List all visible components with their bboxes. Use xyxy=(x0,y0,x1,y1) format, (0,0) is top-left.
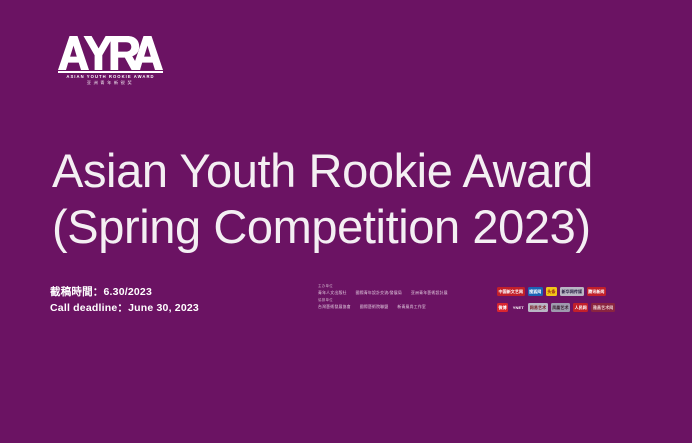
title-line-1: Asian Youth Rookie Award xyxy=(52,143,667,199)
media-logo: 头条 xyxy=(546,287,557,296)
media-logo: 网易艺术 xyxy=(528,303,547,312)
organizer-name: 國際藝術院聯盟 xyxy=(360,305,389,309)
media-logo: 雅昌艺术网 xyxy=(591,303,615,312)
deadline-chinese: 截稿時間：6.30/2023 xyxy=(50,284,199,300)
logo-subtitle-en: ASIAN YOUTH ROOKIE AWARD xyxy=(58,75,163,79)
deadline-block: 截稿時間：6.30/2023 Call deadline：June 30, 20… xyxy=(50,284,199,316)
organizer-name: 台灣藝術發展協會 xyxy=(318,305,351,309)
organizer-group: 主办单位 青年人文出版社 國際青年設計交流/發展局 亚洲青年藝術設計展 xyxy=(318,285,490,295)
organizer-name: 青年人文出版社 xyxy=(318,291,347,295)
organizer-block: 主办单位 青年人文出版社 國際青年設計交流/發展局 亚洲青年藝術設計展 協辦单位… xyxy=(318,285,490,313)
ayra-wordmark-icon xyxy=(58,36,163,70)
media-logo: 微博 xyxy=(497,303,508,312)
organizer-name: 國際青年設計交流/發展局 xyxy=(356,291,402,295)
media-logo: 中国新文艺网 xyxy=(497,287,525,296)
title-line-2: (Spring Competition 2023) xyxy=(52,199,667,255)
organizer-group: 協辦单位 台灣藝術發展協會 國際藝術院聯盟 新青風尚工作室 xyxy=(318,299,490,309)
media-logo: 新华网传媒 xyxy=(560,287,584,296)
logo-subtitle-cn: 亚洲青年新锐奖 xyxy=(58,81,163,85)
media-logo: 腾讯新闻 xyxy=(587,287,606,296)
organizer-names: 青年人文出版社 國際青年設計交流/發展局 亚洲青年藝術設計展 xyxy=(318,291,490,295)
media-partner-strip: 中国新文艺网 搜狐网 头条 新华网传媒 腾讯新闻 微博 YNET 网易艺术 凤凰… xyxy=(497,285,649,317)
ayra-logo: ASIAN YOUTH ROOKIE AWARD 亚洲青年新锐奖 xyxy=(58,36,163,85)
logo-divider xyxy=(58,71,163,73)
media-row-1: 中国新文艺网 搜狐网 头条 新华网传媒 腾讯新闻 xyxy=(497,285,649,298)
organizer-names: 台灣藝術發展協會 國際藝術院聯盟 新青風尚工作室 xyxy=(318,305,490,309)
media-logo: 凤凰艺术 xyxy=(551,303,570,312)
page-title: Asian Youth Rookie Award (Spring Competi… xyxy=(52,143,667,255)
organizer-name: 新青風尚工作室 xyxy=(397,305,426,309)
media-logo: 人民网 xyxy=(573,303,588,312)
organizer-name: 亚洲青年藝術設計展 xyxy=(411,291,448,295)
organizer-label: 主办单位 xyxy=(318,285,490,288)
deadline-english: Call deadline：June 30, 2023 xyxy=(50,300,199,316)
organizer-label: 協辦单位 xyxy=(318,299,490,302)
poster-canvas: ASIAN YOUTH ROOKIE AWARD 亚洲青年新锐奖 Asian Y… xyxy=(0,0,692,443)
media-logo-ynet: YNET xyxy=(511,303,525,312)
media-row-2: 微博 YNET 网易艺术 凤凰艺术 人民网 雅昌艺术网 xyxy=(497,301,649,314)
media-logo: 搜狐网 xyxy=(528,287,543,296)
